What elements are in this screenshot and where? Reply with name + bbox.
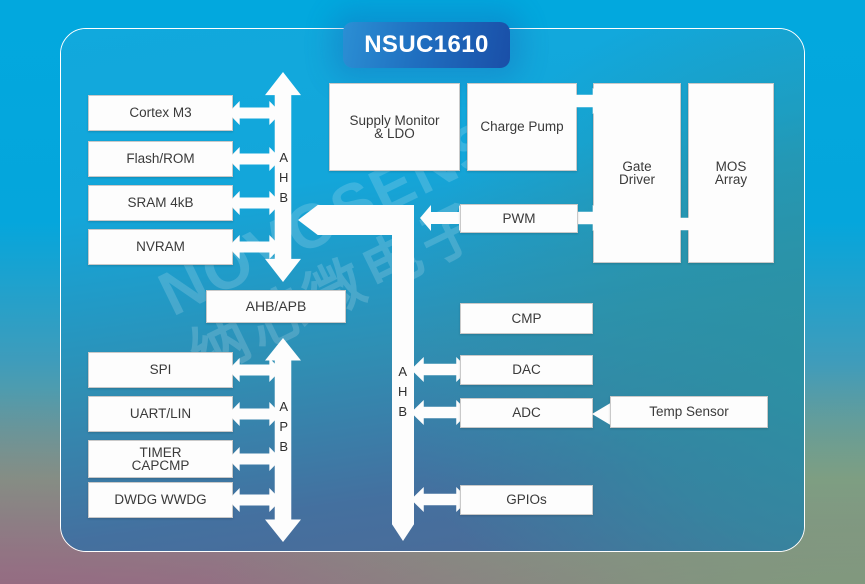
- block-adc[interactable]: ADC: [460, 398, 593, 428]
- block-gate-driver-line2: Driver: [619, 173, 655, 187]
- block-supply-monitor-line2: & LDO: [374, 127, 415, 141]
- block-cmp[interactable]: CMP: [460, 303, 593, 334]
- block-dac[interactable]: DAC: [460, 355, 593, 385]
- block-gpios[interactable]: GPIOs: [460, 485, 593, 515]
- block-supply-monitor-ldo[interactable]: Supply Monitor & LDO: [329, 83, 460, 171]
- bus-letter-h-right: H: [396, 382, 410, 402]
- block-mos-array[interactable]: MOS Array: [688, 83, 774, 263]
- block-timer-capcmp[interactable]: TIMER CAPCMP: [88, 440, 233, 478]
- bus-letter-a: A: [277, 148, 291, 168]
- block-temp-sensor[interactable]: Temp Sensor: [610, 396, 768, 428]
- block-mos-array-line1: MOS: [716, 160, 747, 174]
- bus-label-ahb-right: A H B: [396, 362, 410, 422]
- block-gate-driver-line1: Gate: [622, 160, 651, 174]
- bus-label-ahb-left: A H B: [277, 148, 291, 208]
- block-timer-capcmp-line2: CAPCMP: [132, 459, 190, 473]
- block-charge-pump[interactable]: Charge Pump: [467, 83, 577, 171]
- chip-title-badge: NSUC1610: [343, 22, 510, 68]
- block-sram-4kb[interactable]: SRAM 4kB: [88, 185, 233, 221]
- block-spi[interactable]: SPI: [88, 352, 233, 388]
- block-dwdg-wwdg[interactable]: DWDG WWDG: [88, 482, 233, 518]
- bus-label-apb-left: A P B: [277, 397, 291, 457]
- block-uart-lin[interactable]: UART/LIN: [88, 396, 233, 432]
- bus-letter-b: B: [277, 188, 291, 208]
- block-mos-array-line2: Array: [715, 173, 747, 187]
- connector-ahb-branch-to-left-bus: [298, 205, 414, 235]
- block-cortex-m3[interactable]: Cortex M3: [88, 95, 233, 131]
- block-ahb-apb-bridge[interactable]: AHB/APB: [206, 290, 346, 323]
- block-flash-rom[interactable]: Flash/ROM: [88, 141, 233, 177]
- block-gate-driver[interactable]: Gate Driver: [593, 83, 681, 263]
- bus-letter-a-right: A: [396, 362, 410, 382]
- block-pwm[interactable]: PWM: [460, 204, 578, 233]
- bus-letter-h: H: [277, 168, 291, 188]
- bus-letter-b-right: B: [396, 402, 410, 422]
- block-supply-monitor-line1: Supply Monitor: [349, 114, 439, 128]
- bus-letter-p-apb: P: [277, 417, 291, 437]
- block-timer-capcmp-line1: TIMER: [140, 446, 182, 460]
- bus-letter-b-apb: B: [277, 437, 291, 457]
- block-nvram[interactable]: NVRAM: [88, 229, 233, 265]
